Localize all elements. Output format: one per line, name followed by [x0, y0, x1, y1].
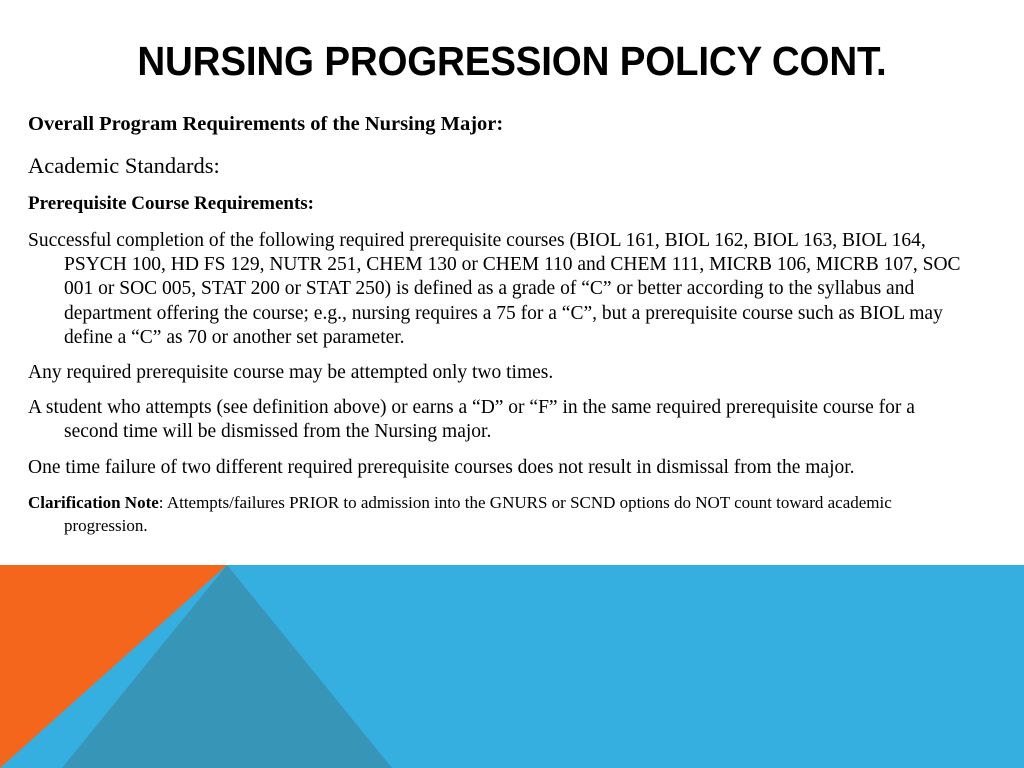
heading-overall-program-requirements: Overall Program Requirements of the Nurs… — [28, 112, 968, 137]
heading-prerequisite-course-requirements: Prerequisite Course Requirements: — [28, 192, 968, 216]
paragraph-attempt-limit: Any required prerequisite course may be … — [28, 361, 968, 385]
slide: Nursing Progression Policy Cont. Overall… — [0, 0, 1024, 768]
clarification-note-text: : Attempts/failures PRIOR to admission i… — [64, 493, 892, 535]
paragraph-prerequisite-courses: Successful completion of the following r… — [28, 229, 968, 350]
page-title: Nursing Progression Policy Cont. — [31, 38, 994, 84]
paragraph-clarification-note: Clarification Note: Attempts/failures PR… — [28, 491, 968, 537]
angled-color-banner-icon — [0, 565, 1024, 768]
heading-academic-standards: Academic Standards: — [28, 152, 968, 179]
paragraph-dismissal-rule: A student who attempts (see definition a… — [28, 396, 968, 444]
paragraph-one-time-failure: One time failure of two different requir… — [28, 456, 968, 480]
footer-graphic — [0, 565, 1024, 768]
clarification-note-label: Clarification Note — [28, 493, 159, 512]
slide-body: Overall Program Requirements of the Nurs… — [28, 112, 968, 537]
